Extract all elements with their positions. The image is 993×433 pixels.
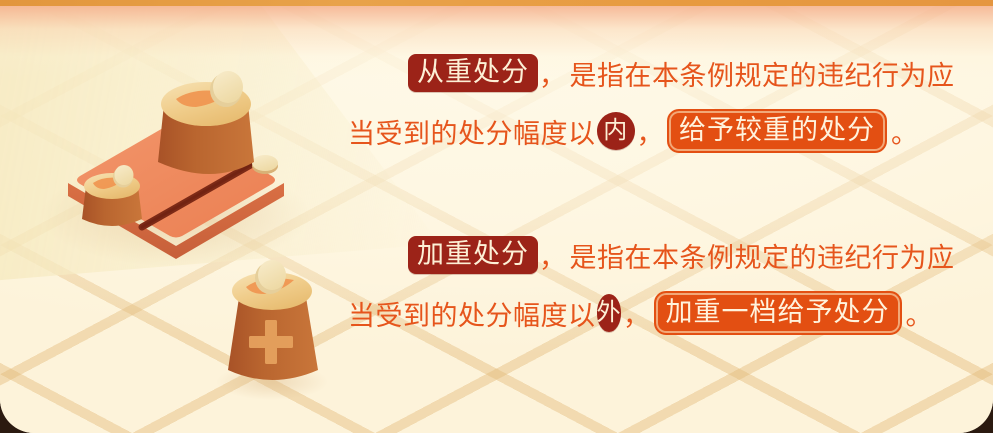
term-badge-jiazhongchufen[interactable]: 加重处分: [408, 236, 538, 274]
infographic-canvas: 从重处分 ， 是指在本条例规定的违纪行为应 当受到的处分幅度以 内 ， 给予较重…: [0, 0, 993, 433]
action-button-geiyu-jiaozhong-chufen[interactable]: 给予较重的处分: [667, 109, 887, 153]
action-button-jiazhong-yidang-geiyu-chufen[interactable]: 加重一档给予处分: [654, 291, 902, 335]
definition-text-line-4-prefix: 当受到的处分幅度以: [348, 294, 596, 333]
comma-after-term-2: ，: [538, 236, 570, 275]
scope-badge-wai[interactable]: 外: [597, 294, 622, 332]
term-badge-congzhongchufen[interactable]: 从重处分: [408, 54, 538, 92]
track-end-knob: [252, 155, 278, 174]
paragraph-congzhong-line-1: 从重处分 ， 是指在本条例规定的违纪行为应: [330, 44, 930, 102]
period-end-congzhong: 。: [887, 112, 919, 151]
weight-plus: [216, 260, 328, 400]
paragraph-congzhong-line-2: 当受到的处分幅度以 内 ， 给予较重的处分 。: [330, 102, 930, 160]
comma-after-term: ，: [538, 54, 570, 93]
paragraph-jiazhong-line-2: 当受到的处分幅度以 外 ， 加重一档给予处分 。: [330, 284, 930, 342]
paragraph-jiazhong-line-1: 加重处分 ， 是指在本条例规定的违纪行为应: [330, 226, 930, 284]
definition-text-line-2-prefix: 当受到的处分幅度以: [348, 112, 596, 151]
definition-text-line-1: 是指在本条例规定的违纪行为应: [570, 54, 955, 93]
scope-badge-nei[interactable]: 内: [597, 112, 635, 150]
paragraph-jiazhong: 加重处分 ， 是指在本条例规定的违纪行为应 当受到的处分幅度以 外 ， 加重一档…: [330, 226, 930, 342]
comma-after-scope: ，: [636, 112, 668, 151]
period-end-jiazhong: 。: [902, 294, 934, 333]
definition-text-line-3: 是指在本条例规定的违纪行为应: [570, 236, 955, 275]
comma-after-scope-2: ，: [622, 294, 654, 333]
definition-text-column: 从重处分 ， 是指在本条例规定的违纪行为应 当受到的处分幅度以 内 ， 给予较重…: [330, 0, 930, 433]
paragraph-congzhong: 从重处分 ， 是指在本条例规定的违纪行为应 当受到的处分幅度以 内 ， 给予较重…: [330, 44, 930, 160]
